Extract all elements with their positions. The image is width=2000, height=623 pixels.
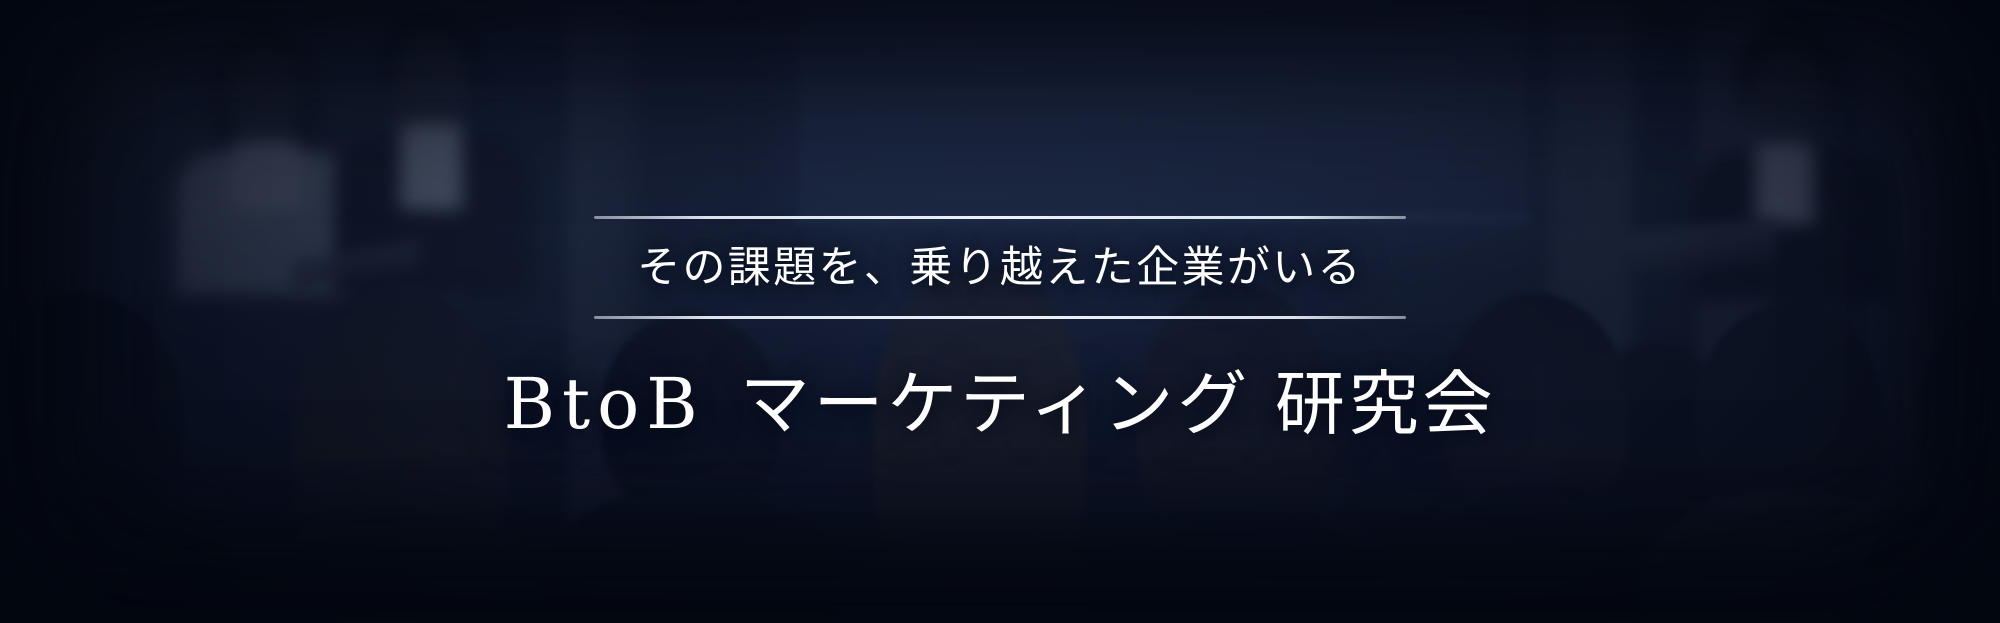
hero-subtitle: その課題を、乗り越えた企業がいる [637, 241, 1363, 296]
hero-title: BtoBマーケティング研究会 [504, 365, 1497, 443]
hero-title-latin: BtoB [504, 363, 716, 445]
divider-top-line [594, 216, 1406, 219]
hero-banner: その課題を、乗り越えた企業がいる BtoBマーケティング研究会 [0, 0, 2000, 623]
divider-bottom-line [594, 316, 1406, 319]
hero-title-katakana: マーケティング [740, 363, 1251, 445]
hero-caption: その課題を、乗り越えた企業がいる BtoBマーケティング研究会 [0, 0, 2000, 623]
hero-title-kanji: 研究会 [1275, 363, 1497, 445]
